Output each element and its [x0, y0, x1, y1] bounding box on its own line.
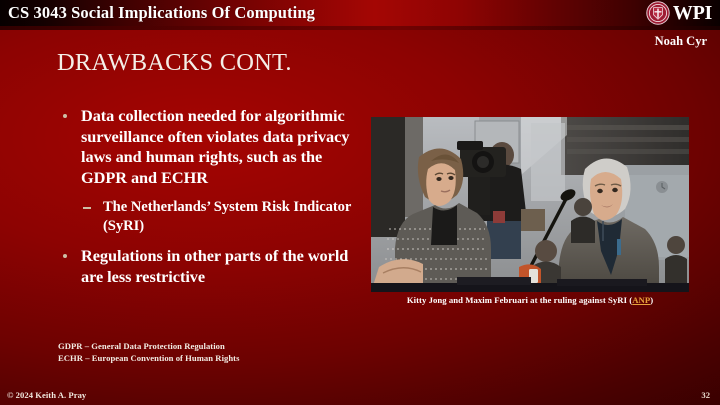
list-item: Regulations in other parts of the world …	[57, 246, 362, 287]
course-title: CS 3043 Social Implications Of Computing	[8, 3, 315, 23]
photo-caption: Kitty Jong and Maxim Februari at the rul…	[371, 295, 689, 305]
slide-photo	[371, 117, 689, 292]
list-item-label: The Netherlands’ System Risk Indicator (…	[103, 199, 351, 233]
list-item: The Netherlands’ System Risk Indicator (…	[57, 198, 362, 235]
slide-canvas: CS 3043 Social Implications Of Computing…	[0, 0, 720, 405]
presenter-name: Noah Cyr	[655, 34, 707, 49]
bullet-dot-icon	[63, 254, 67, 258]
footnote-echr: ECHR – European Convention of Human Righ…	[58, 352, 240, 364]
bullet-list: Data collection needed for algorithmic s…	[57, 106, 362, 297]
page-title: DRAWBACKS CONT.	[57, 49, 292, 77]
list-item: Data collection needed for algorithmic s…	[57, 106, 362, 188]
footnote-gdpr: GDPR – General Data Protection Regulatio…	[58, 340, 240, 352]
photo-credit-link[interactable]: ANP	[632, 295, 650, 305]
photo-block: Kitty Jong and Maxim Februari at the rul…	[371, 117, 689, 292]
wpi-seal-icon	[646, 1, 670, 25]
wpi-logo: WPI	[646, 1, 712, 25]
footnote-block: GDPR – General Data Protection Regulatio…	[58, 340, 240, 365]
photo-caption-prefix: Kitty Jong and Maxim Februari at the rul…	[407, 295, 632, 305]
wpi-wordmark: WPI	[673, 3, 712, 23]
list-item-label: Regulations in other parts of the world …	[81, 246, 348, 286]
photo-caption-suffix: )	[650, 295, 653, 305]
list-item-label: Data collection needed for algorithmic s…	[81, 106, 349, 187]
slide-page-number: 32	[701, 390, 710, 400]
bullet-dot-icon	[63, 114, 67, 118]
slide-header-underline	[0, 26, 720, 30]
footer-copyright: © 2024 Keith A. Pray	[7, 390, 86, 400]
bullet-dash-icon	[83, 207, 91, 209]
